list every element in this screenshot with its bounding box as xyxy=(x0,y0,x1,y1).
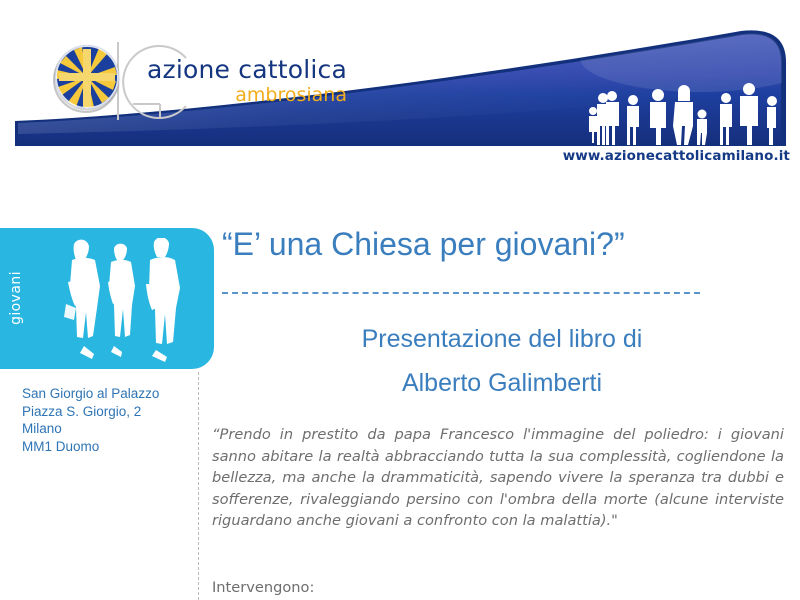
brand-line-1: azione cattolica xyxy=(147,57,347,82)
subtitle-line-2: Alberto Galimberti xyxy=(222,366,782,400)
three-youths-silhouette-icon xyxy=(56,238,188,364)
address-line-3: Milano xyxy=(22,420,197,438)
giovani-panel: giovani xyxy=(0,228,214,369)
giovani-label: giovani xyxy=(8,248,24,348)
vertical-dotted-divider xyxy=(198,372,199,600)
header-banner: azione cattolica ambrosiana xyxy=(0,0,800,180)
brand-wordmark: azione cattolica ambrosiana xyxy=(147,57,347,105)
horizontal-dashed-divider xyxy=(222,292,700,294)
book-quote-text: “Prendo in prestito da papa Francesco l'… xyxy=(212,424,784,532)
slide-canvas: azione cattolica ambrosiana xyxy=(0,0,800,600)
brand-line-2: ambrosiana xyxy=(147,86,347,105)
sunburst-emblem-icon xyxy=(55,45,119,109)
website-url: www.azionecattolicamilano.it xyxy=(0,148,790,164)
address-line-1: San Giorgio al Palazzo xyxy=(22,385,197,403)
crowd-silhouettes-icon xyxy=(586,83,786,145)
page-title: “E’ una Chiesa per giovani?” xyxy=(222,224,782,264)
speakers-heading: Intervengono: xyxy=(212,578,772,598)
address-line-4: MM1 Duomo xyxy=(22,438,197,456)
address-line-2: Piazza S. Giorgio, 2 xyxy=(22,403,197,421)
subtitle-line-1: Presentazione del libro di xyxy=(222,322,782,356)
venue-address: San Giorgio al Palazzo Piazza S. Giorgio… xyxy=(22,385,197,455)
book-quote: “Prendo in prestito da papa Francesco l'… xyxy=(212,424,784,532)
